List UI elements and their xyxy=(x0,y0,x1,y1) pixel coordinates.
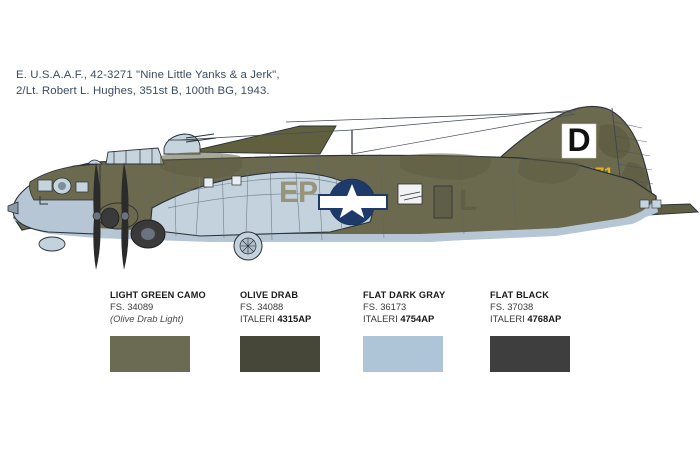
paint-name: FLAT DARK GRAY xyxy=(363,289,491,301)
paint-ref-prefix: ITALERI xyxy=(240,313,277,324)
paint-swatch-flat-dark-gray: FLAT DARK GRAY FS. 36173 ITALERI 4754AP xyxy=(363,289,491,326)
paint-swatch-light-green-camo: LIGHT GREEN CAMO FS. 34089 (Olive Drab L… xyxy=(110,289,238,326)
far-wing xyxy=(188,126,336,154)
caption-line-1: E. U.S.A.A.F., 42-3271 "Nine Little Yank… xyxy=(16,68,436,84)
paint-ref-line: ITALERI 4768AP xyxy=(490,313,618,325)
paint-name: LIGHT GREEN CAMO xyxy=(110,289,238,301)
paint-name: FLAT BLACK xyxy=(490,289,618,301)
nose-section xyxy=(8,160,102,234)
paint-ref-code: 4315AP xyxy=(277,313,311,324)
main-wheel xyxy=(131,220,165,248)
tail-square-letter: D xyxy=(567,122,590,158)
paint-color-chip xyxy=(490,336,570,372)
paint-ref-prefix: ITALERI xyxy=(490,313,527,324)
engine-nacelle-outer xyxy=(98,203,138,229)
paint-fs-code: FS. 36173 xyxy=(363,301,491,313)
paint-swatch-olive-drab: OLIVE DRAB FS. 34088 ITALERI 4315AP xyxy=(240,289,368,326)
paint-ref-line: ITALERI 4754AP xyxy=(363,313,491,325)
paint-ref-code: 4754AP xyxy=(400,313,434,324)
paint-fs-code: FS. 37038 xyxy=(490,301,618,313)
paint-color-legend: LIGHT GREEN CAMO FS. 34089 (Olive Drab L… xyxy=(0,289,700,389)
paint-color-chip xyxy=(363,336,443,372)
aircraft-profile-illustration: D 23271 L xyxy=(0,96,700,286)
paint-name: OLIVE DRAB xyxy=(240,289,368,301)
paint-color-chip xyxy=(110,336,190,372)
paint-ref-prefix: ITALERI xyxy=(363,313,400,324)
paint-ref-line: ITALERI 4315AP xyxy=(240,313,368,325)
fuselage-squadron-code: EP xyxy=(279,176,317,209)
paint-fs-code: FS. 34089 xyxy=(110,301,238,313)
ball-turret xyxy=(234,232,262,260)
nose-wheel xyxy=(39,237,65,251)
fuselage-rear-letter: L xyxy=(459,184,477,217)
paint-fs-code: FS. 34088 xyxy=(240,301,368,313)
paint-color-chip xyxy=(240,336,320,372)
livery-caption: E. U.S.A.A.F., 42-3271 "Nine Little Yank… xyxy=(16,68,436,99)
paint-swatch-flat-black: FLAT BLACK FS. 37038 ITALERI 4768AP xyxy=(490,289,618,326)
paint-ref-code: 4768AP xyxy=(527,313,561,324)
paint-ref-note: (Olive Drab Light) xyxy=(110,313,238,325)
